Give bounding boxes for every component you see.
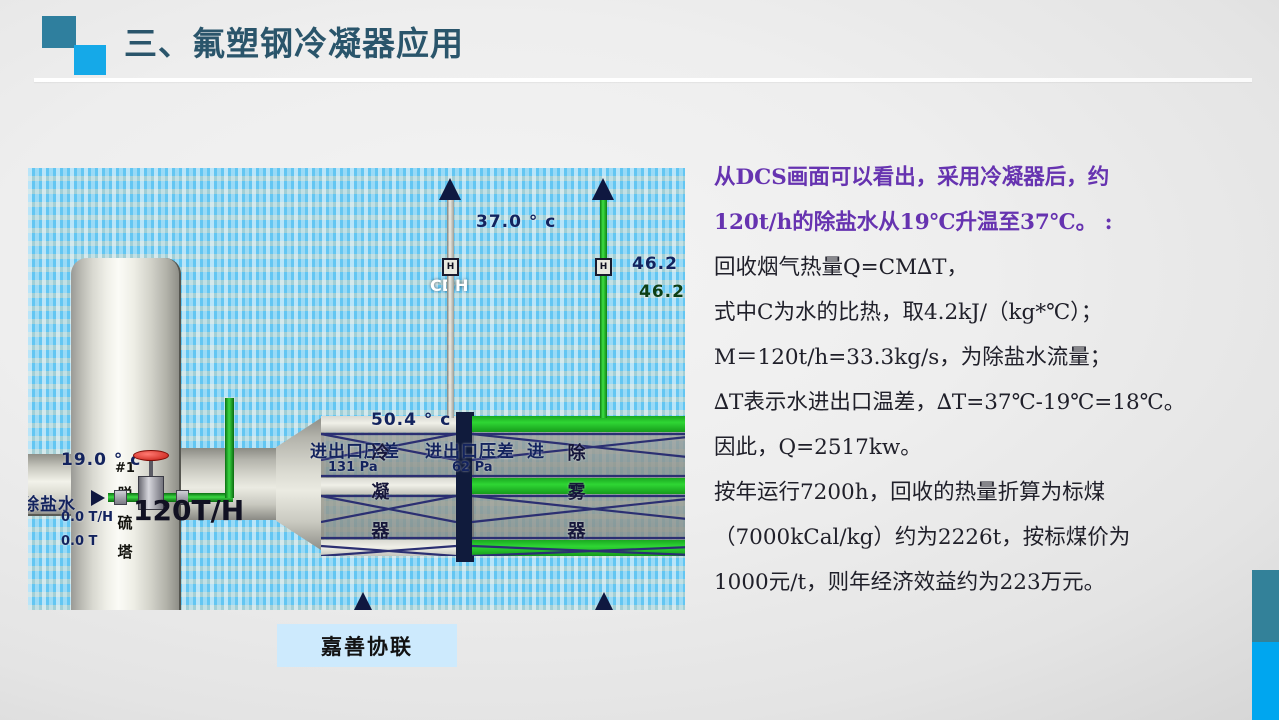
right-accent-bar: [1252, 570, 1279, 720]
body-line-10: 1000元/t，则年经济效益约为223万元。: [714, 560, 1266, 605]
tower-char-3: 塔: [112, 538, 138, 567]
image-caption-text: 嘉善协联: [321, 631, 413, 661]
condenser-outlet-arrow-icon: [439, 178, 461, 200]
page-title: 三、氟塑钢冷凝器应用: [124, 17, 464, 65]
image-caption-box: 嘉善协联: [277, 624, 457, 667]
reading-flow-total: 0.0 T: [61, 534, 97, 549]
demister-outlet-shaft: [600, 198, 607, 418]
accent-bar-bottom: [1252, 642, 1279, 720]
inlet-flange-1: [114, 490, 127, 505]
reading-inlet-water-temp: 19.0 ° c: [61, 450, 141, 470]
body-text-block: 从DCS画面可以看出，采用冷凝器后，约 120t/h的除盐水从19℃升温至37℃…: [714, 155, 1266, 605]
body-line-4: 式中C为水的比热，取4.2kJ/（kg*℃）；: [714, 290, 1266, 335]
demister-outlet-stem: H: [600, 198, 607, 418]
label-dp-2: 进出口压差: [425, 437, 515, 462]
body-line-2: 120t/h的除盐水从19℃升温至37℃。 :: [714, 200, 1266, 245]
control-valve-stem: [149, 460, 153, 476]
body-line-9: （7000kCal/kg）约为2226t，按标煤价为: [714, 515, 1266, 560]
condenser-char-3: 器: [371, 512, 389, 551]
condenser-outlet-stem: H: [447, 198, 454, 418]
demister-gauge-icon: H: [595, 258, 612, 276]
inlet-arrow-icon: [91, 490, 105, 506]
condenser-outlet-shaft: [447, 198, 454, 418]
demister-char-3: 器: [567, 512, 585, 551]
reading-flow-small: 0.0 T/H: [61, 510, 113, 525]
body-line-5: M＝120t/h=33.3kg/s，为除盐水流量；: [714, 335, 1266, 380]
reading-flow-big: 120T/H: [133, 494, 244, 527]
reading-dp-2: 62 Pa: [452, 460, 493, 475]
body-line-7: 因此，Q=2517kw。: [714, 425, 1266, 470]
dcs-screenshot-panel: #1 脱 硫 塔: [28, 168, 685, 610]
demister-char-1: 除: [567, 434, 585, 473]
condenser-label: 冷 凝 器: [371, 434, 389, 551]
reading-bar-temp-right: 46.2: [639, 282, 685, 302]
body-line-3: 回收烟气热量Q=CM∆T，: [714, 245, 1266, 290]
condenser-char-2: 凝: [371, 473, 389, 512]
slide-canvas: 三、氟塑钢冷凝器应用 #1 脱 硫 塔: [0, 0, 1279, 720]
body-line-6: ∆T表示水进出口温差，∆T=37℃-19℃=18℃。: [714, 380, 1266, 425]
condenser-gauge-icon: H: [442, 258, 459, 276]
reading-dp-1: 131 Pa: [328, 460, 378, 475]
condenser-char-1: 冷: [371, 434, 389, 473]
demister-label: 除 雾 器: [567, 434, 585, 551]
body-line-8: 按年运行7200h，回收的热量折算为标煤: [714, 470, 1266, 515]
reading-outlet-temp-left: 37.0 ° c: [476, 212, 556, 232]
control-valve-actuator-icon: [133, 450, 169, 461]
demister-outlet-arrow-icon: [592, 178, 614, 200]
bottom-arrow-left-icon: [353, 592, 373, 610]
desulfurization-tower: #1 脱 硫 塔: [71, 258, 181, 610]
body-line-1: 从DCS画面可以看出，采用冷凝器后，约: [714, 155, 1266, 200]
reading-bottom-temp-left: 50.4 ° c: [371, 410, 451, 430]
label-dp-3: 进: [527, 437, 545, 462]
accent-bar-top: [1252, 570, 1279, 642]
inlet-pipe-riser: [225, 398, 234, 498]
demister-char-2: 雾: [567, 473, 585, 512]
title-divider: [34, 78, 1252, 82]
reading-outlet-temp-right: 46.2 ° c: [632, 254, 685, 274]
decoration-square-dark: [42, 16, 76, 48]
title-decoration: [42, 16, 116, 72]
decoration-square-light: [74, 45, 106, 75]
bottom-arrow-right-icon: [594, 592, 614, 610]
